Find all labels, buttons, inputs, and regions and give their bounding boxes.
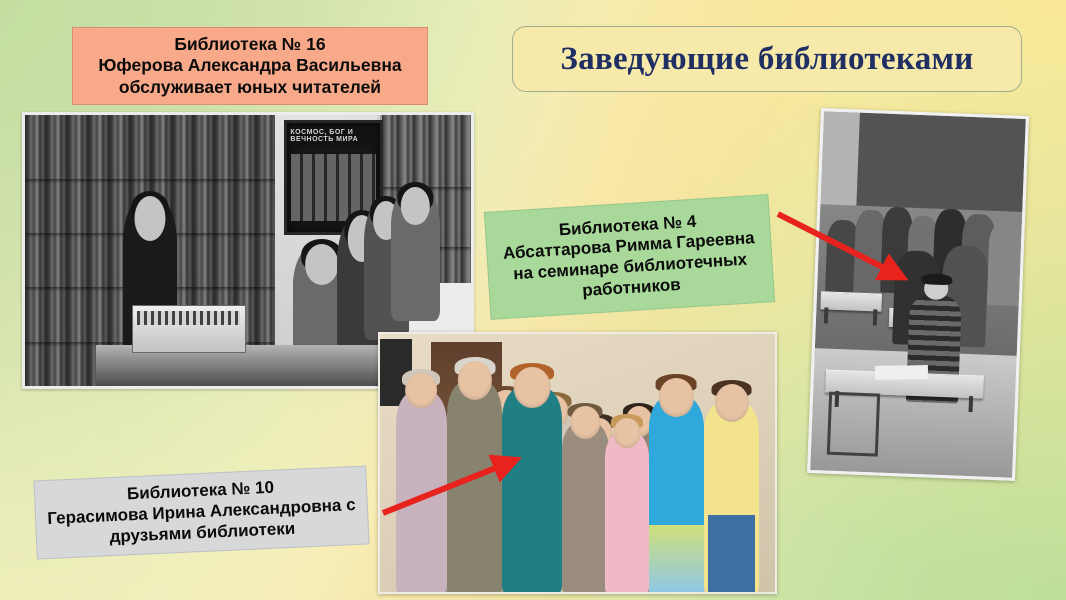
face	[134, 196, 165, 242]
page-title: Заведующие библиотеками	[560, 41, 973, 78]
caption-library-10: Библиотека № 10 Герасимова Ирина Алексан…	[33, 465, 369, 559]
seminar-desk	[820, 291, 881, 312]
group-member-child	[605, 432, 648, 592]
group-member-front	[562, 422, 609, 592]
hair	[921, 273, 952, 285]
slide-canvas: КОСМОС, БОГ И ВЕЧНОСТЬ МИРА	[0, 0, 1066, 600]
group-member-center	[502, 386, 561, 592]
face	[305, 244, 339, 284]
face	[714, 384, 748, 422]
group-member-front	[396, 391, 447, 592]
poster-title: КОСМОС, БОГ И ВЕЧНОСТЬ МИРА	[290, 127, 376, 147]
skirt	[649, 525, 704, 592]
face	[401, 187, 429, 225]
face	[458, 361, 492, 399]
chair	[827, 392, 880, 457]
card-catalog-tray	[132, 305, 246, 353]
slide-title-box: Заведующие библиотеками	[512, 26, 1022, 92]
face	[571, 406, 600, 439]
shelf-board	[25, 172, 275, 179]
group-member-front	[447, 380, 502, 592]
seminar-attendee	[986, 222, 1021, 306]
face	[659, 378, 693, 416]
caption-library-16: Библиотека № 16 Юферова Александра Васил…	[72, 27, 428, 105]
photo-library-4-seminar[interactable]	[807, 108, 1029, 481]
face	[406, 373, 438, 409]
caption-library-4: Библиотека № 4 Абсаттарова Римма Гареевн…	[484, 194, 775, 320]
paper-on-desk	[874, 365, 927, 380]
photo-library-10-group[interactable]	[378, 332, 777, 594]
caption-line: Библиотека № 16	[98, 34, 401, 55]
caption-line: обслуживает юных читателей	[98, 77, 401, 98]
face	[613, 418, 640, 448]
jeans	[708, 515, 755, 592]
caption-line: Юферова Александра Васильевна	[98, 55, 401, 76]
child-figure	[391, 185, 440, 321]
face	[514, 367, 551, 408]
